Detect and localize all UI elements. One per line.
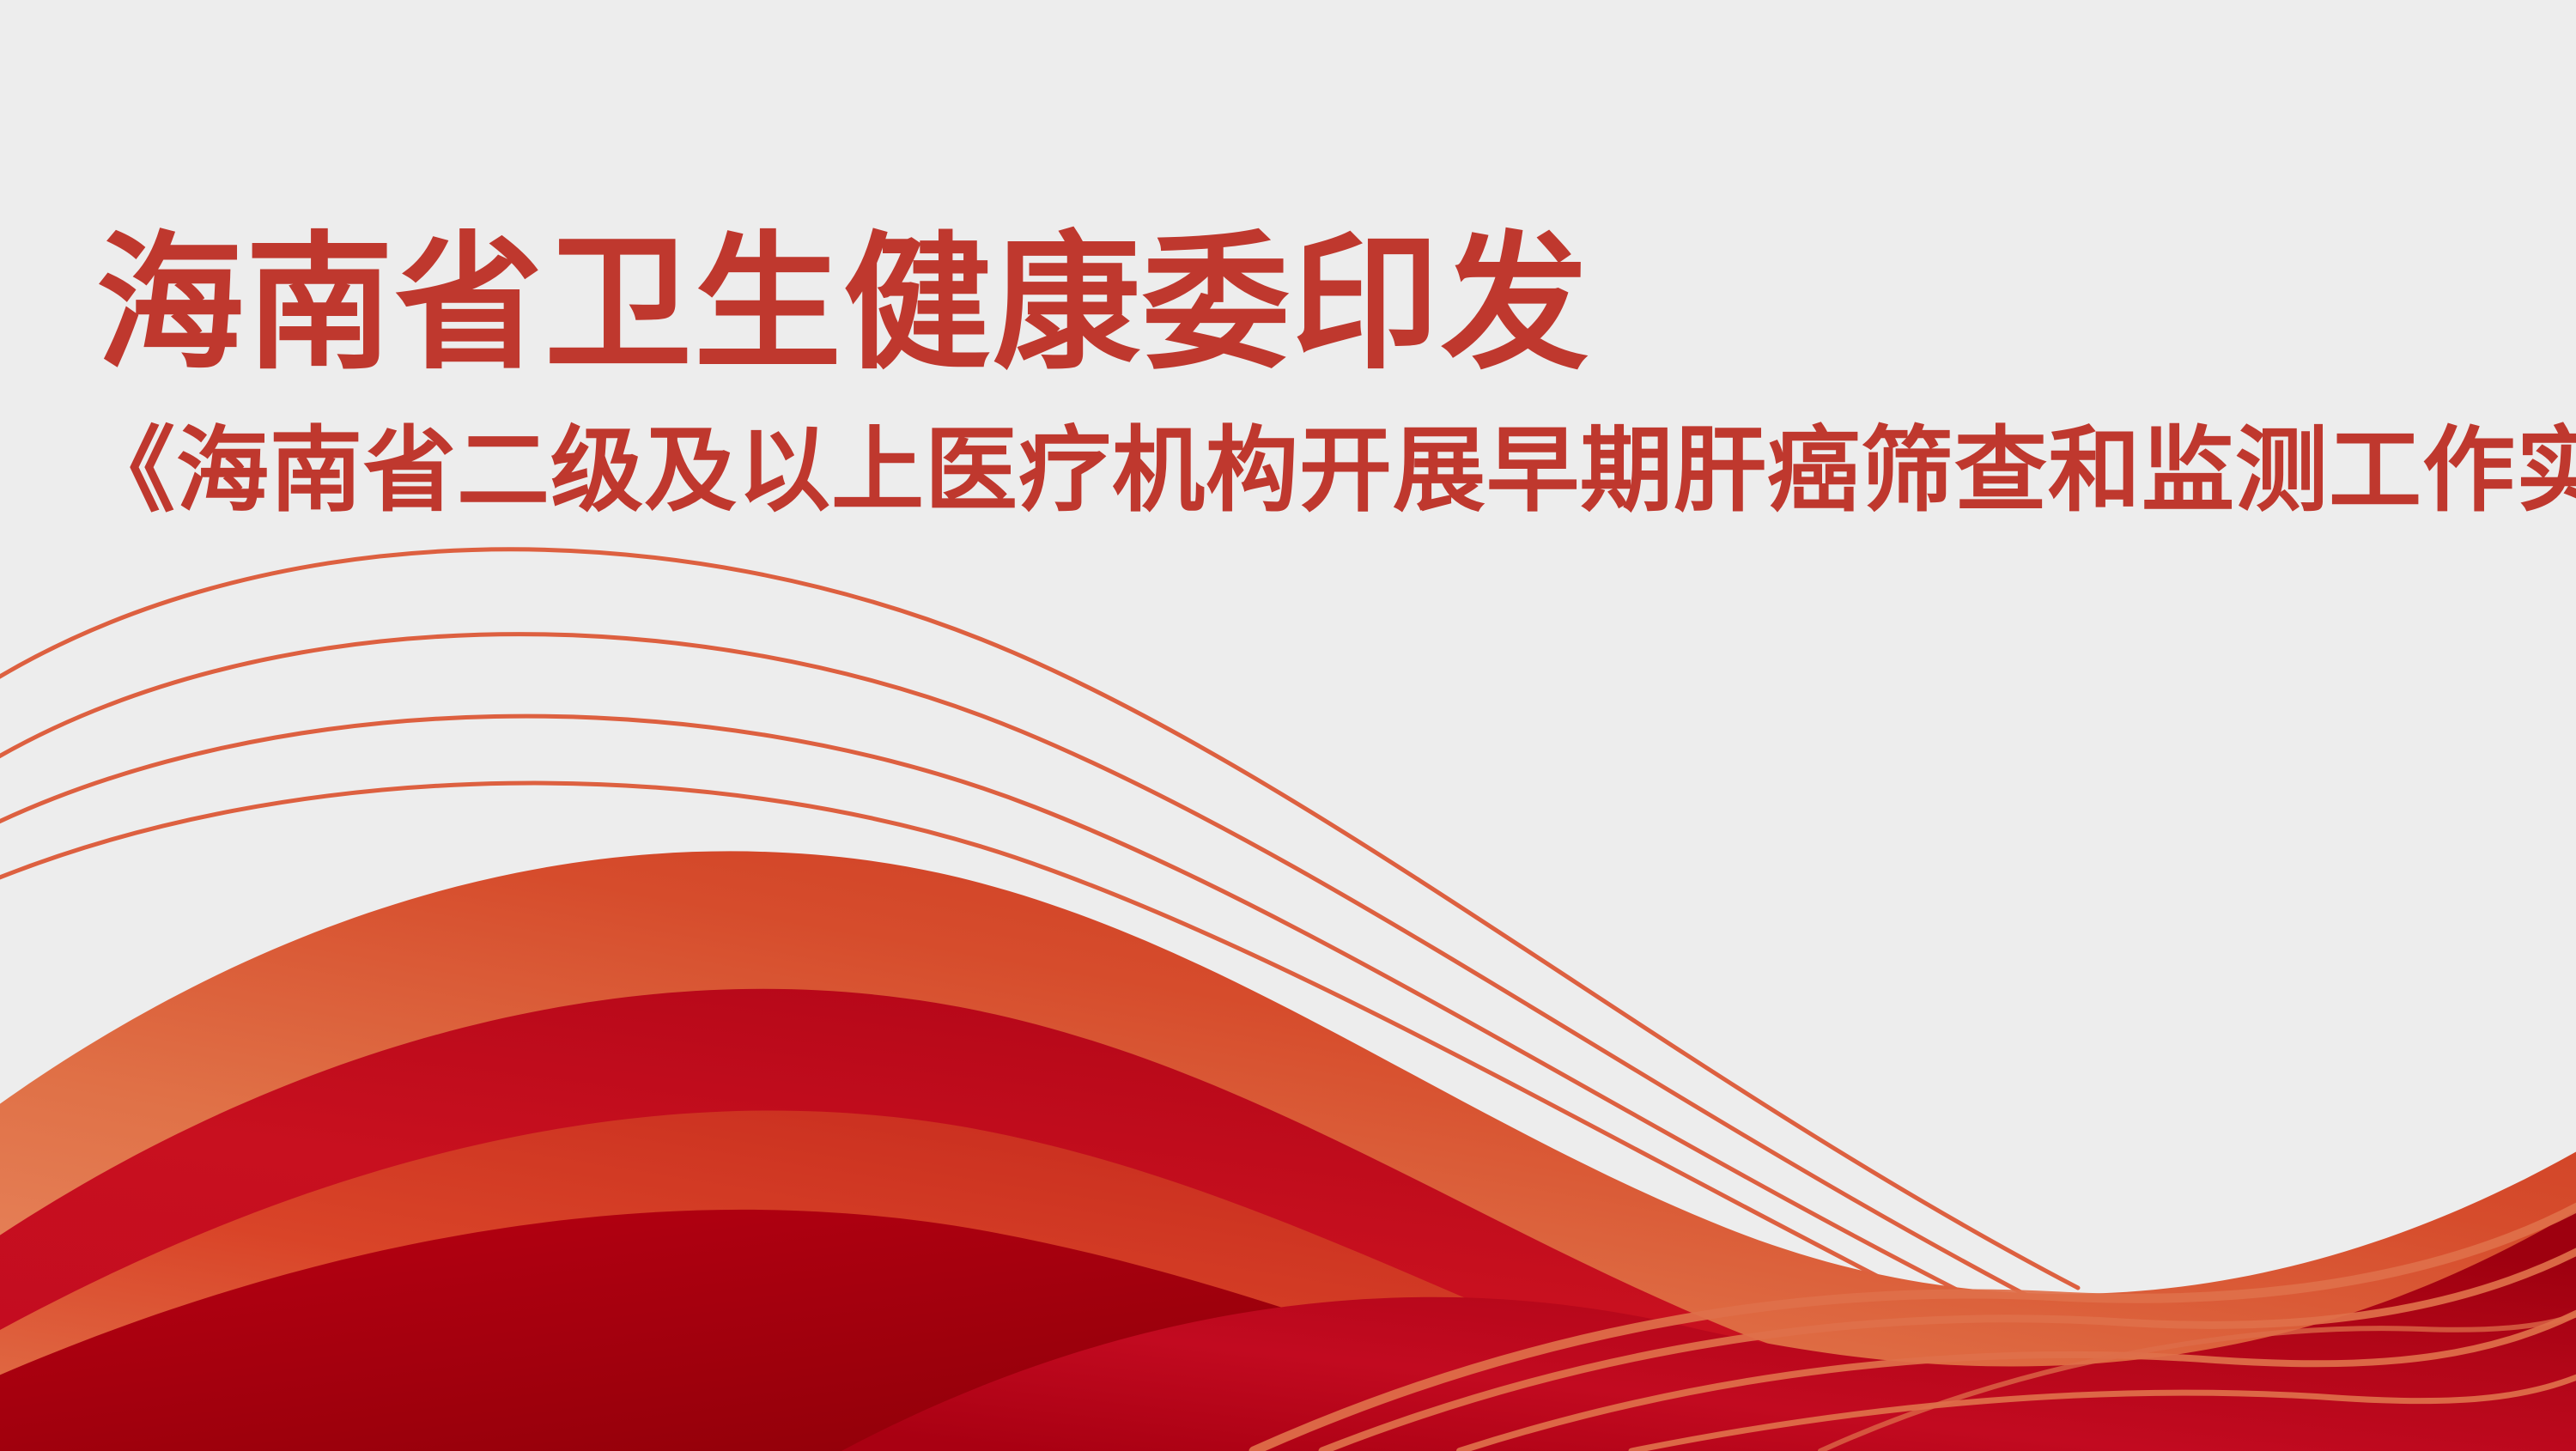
decorative-wave-graphic: [0, 0, 2576, 1451]
deep-red-wave: [0, 1210, 1752, 1451]
poster-canvas: 海南省卫生健康委印发 《海南省二级及以上医疗机构开展早期肝癌筛查和监测工作实施方…: [0, 0, 2576, 1451]
light-orange-wave: [0, 851, 2576, 1451]
thin-arc-lines: [0, 549, 2181, 1425]
page-title: 海南省卫生健康委印发: [96, 230, 1590, 378]
crimson-upper-wave: [0, 989, 2576, 1451]
orange-red-wave: [0, 1111, 1769, 1451]
highlight-ribbons: [1820, 1307, 2576, 1451]
ribbon-streaks: [1254, 1199, 2576, 1451]
crimson-right-wave: [841, 1200, 2576, 1451]
page-subtitle: 《海南省二级及以上医疗机构开展早期肝癌筛查和监测工作实施方案》: [82, 424, 2576, 517]
